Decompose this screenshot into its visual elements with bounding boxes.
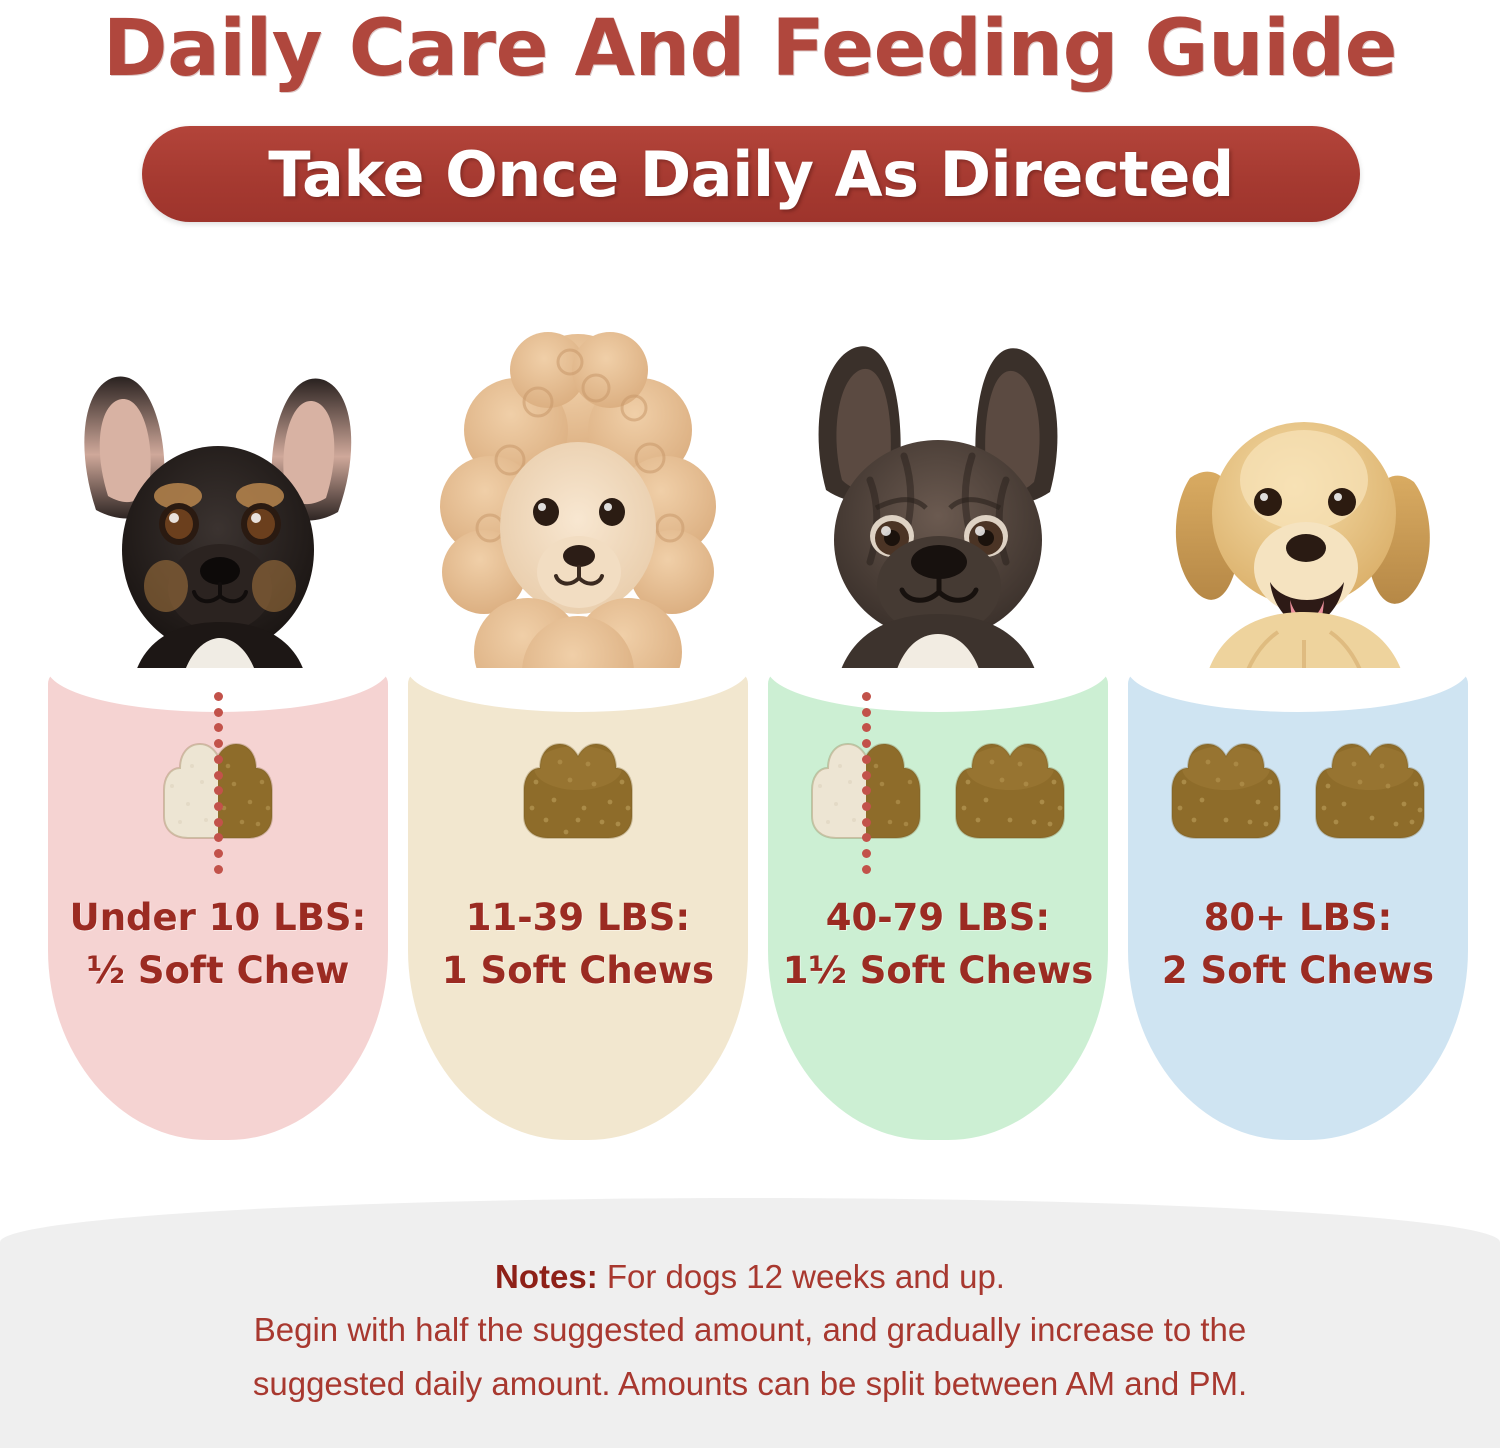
chew-full (1166, 724, 1286, 842)
feeding-guide-infographic: Daily Care And Feeding Guide Take Once D… (0, 0, 1500, 1448)
chew-graphic-group (48, 708, 388, 858)
chew-full (1310, 724, 1430, 842)
chew-graphic-group (1128, 708, 1468, 858)
notes-line-2: Begin with half the suggested amount, an… (90, 1303, 1410, 1356)
paw-chew-full-icon (518, 724, 638, 842)
dosage-card-label: 80+ LBS: 2 Soft Chews (1128, 892, 1468, 997)
dosage-card-label: 11-39 LBS: 1 Soft Chews (408, 892, 748, 997)
chew-half (806, 724, 926, 842)
dosage-cards-row: Under 10 LBS: ½ Soft Chew (0, 300, 1500, 1170)
chew-full (950, 724, 1070, 842)
half-dose-divider (861, 692, 871, 874)
dosage-card-label: 40-79 LBS: 1½ Soft Chews (768, 892, 1108, 997)
dosage-card-40-79-lbs[interactable]: 40-79 LBS: 1½ Soft Chews (768, 670, 1108, 1140)
weight-range-label: 40-79 LBS: (826, 896, 1050, 939)
dosage-card-80-plus-lbs[interactable]: 80+ LBS: 2 Soft Chews (1128, 670, 1468, 1140)
dosage-card-11-39-lbs[interactable]: 11-39 LBS: 1 Soft Chews (408, 670, 748, 1140)
paw-chew-full-icon (1166, 724, 1286, 842)
dog-photo-golden-retriever (1118, 300, 1478, 700)
notes-line-3: suggested daily amount. Amounts can be s… (90, 1357, 1410, 1410)
dosage-card-label: Under 10 LBS: ½ Soft Chew (48, 892, 388, 997)
weight-range-label: 80+ LBS: (1204, 896, 1393, 939)
chew-full (518, 724, 638, 842)
weight-range-label: 11-39 LBS: (466, 896, 690, 939)
half-dose-divider (213, 692, 223, 874)
dog-photo-french-bulldog (758, 300, 1118, 700)
weight-range-label: Under 10 LBS: (70, 896, 367, 939)
notes-text: Notes: For dogs 12 weeks and up. Begin w… (90, 1250, 1410, 1410)
notes-line-1: Notes: For dogs 12 weeks and up. (90, 1250, 1410, 1303)
page-title: Daily Care And Feeding Guide (0, 4, 1500, 94)
dosage-card-under-10-lbs[interactable]: Under 10 LBS: ½ Soft Chew (48, 670, 388, 1140)
chew-half (158, 724, 278, 842)
dose-label: 1 Soft Chews (408, 945, 748, 998)
dog-photo-chihuahua (38, 300, 398, 700)
dose-label: ½ Soft Chew (48, 945, 388, 998)
notes-line-1-text: For dogs 12 weeks and up. (598, 1258, 1005, 1295)
paw-chew-full-icon (1310, 724, 1430, 842)
paw-chew-full-icon (950, 724, 1070, 842)
notes-label: Notes: (495, 1258, 598, 1295)
directions-banner-text: Take Once Daily As Directed (268, 138, 1234, 211)
directions-banner: Take Once Daily As Directed (142, 126, 1360, 222)
dose-label: 2 Soft Chews (1128, 945, 1468, 998)
notes-footer: Notes: For dogs 12 weeks and up. Begin w… (0, 1198, 1500, 1448)
chew-graphic-group (768, 708, 1108, 858)
dose-label: 1½ Soft Chews (768, 945, 1108, 998)
dog-photo-poodle (398, 300, 758, 700)
chew-graphic-group (408, 708, 748, 858)
